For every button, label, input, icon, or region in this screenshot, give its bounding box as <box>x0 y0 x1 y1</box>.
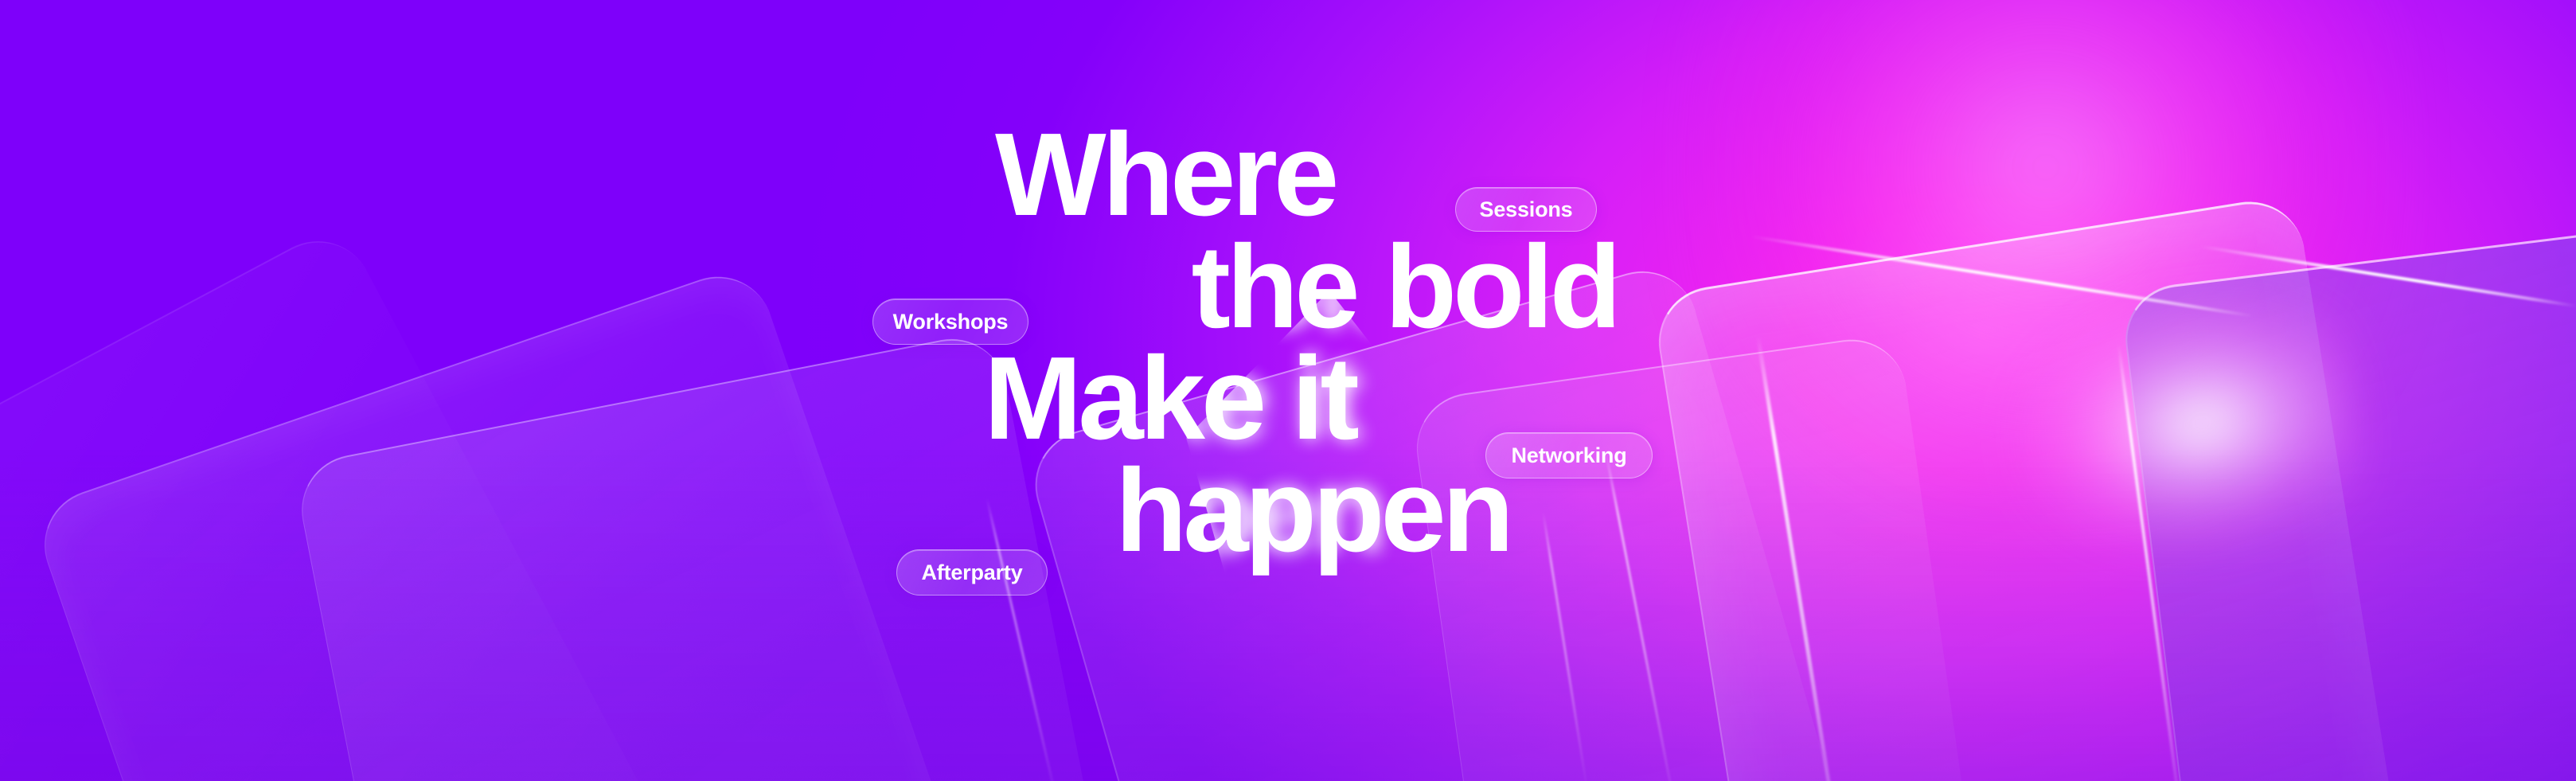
pill-networking-label: Networking <box>1511 443 1626 468</box>
pill-sessions[interactable]: Sessions <box>1455 187 1597 232</box>
pill-sessions-label: Sessions <box>1480 197 1573 222</box>
pill-afterparty[interactable]: Afterparty <box>896 549 1048 596</box>
pill-workshops[interactable]: Workshops <box>872 299 1028 345</box>
hero-banner: Where the bold Make it happen Where the … <box>0 0 2576 781</box>
pill-networking[interactable]: Networking <box>1485 432 1653 478</box>
pill-workshops-label: Workshops <box>893 310 1009 334</box>
pill-afterparty-label: Afterparty <box>921 560 1022 585</box>
